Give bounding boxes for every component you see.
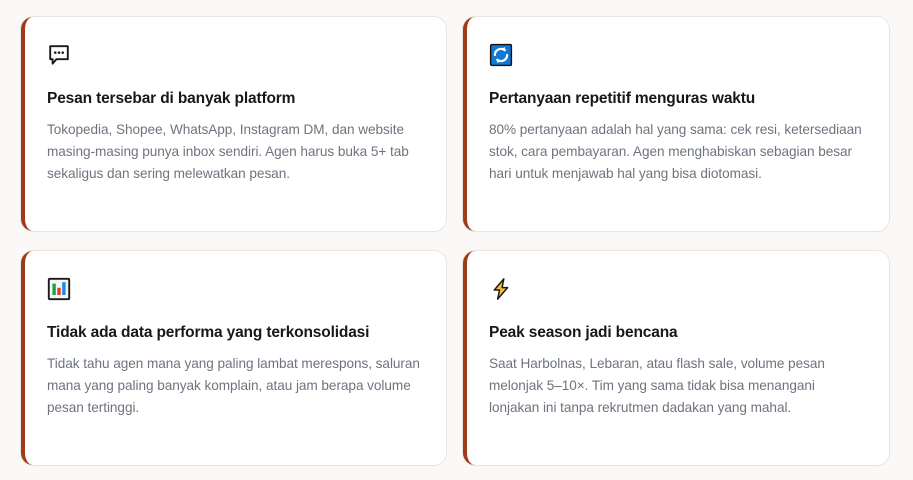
card-body: 80% pertanyaan adalah hal yang sama: cek… (489, 119, 863, 185)
problem-card: Peak season jadi bencana Saat Harbolnas,… (462, 250, 890, 466)
card-body: Saat Harbolnas, Lebaran, atau flash sale… (489, 353, 863, 419)
bar-chart-icon (47, 277, 420, 303)
problem-card: Tidak ada data performa yang terkonsolid… (20, 250, 447, 466)
card-body: Tidak tahu agen mana yang paling lambat … (47, 353, 420, 419)
problem-cards-grid: Pesan tersebar di banyak platform Tokope… (0, 0, 913, 480)
refresh-arrows-icon (489, 43, 863, 69)
card-body: Tokopedia, Shopee, WhatsApp, Instagram D… (47, 119, 420, 185)
card-title: Pesan tersebar di banyak platform (47, 89, 420, 108)
speech-balloon-icon (47, 43, 420, 69)
card-title: Peak season jadi bencana (489, 323, 863, 342)
lightning-bolt-icon (489, 277, 863, 303)
problem-card: Pesan tersebar di banyak platform Tokope… (20, 16, 447, 232)
card-title: Tidak ada data performa yang terkonsolid… (47, 323, 420, 342)
card-title: Pertanyaan repetitif menguras waktu (489, 89, 863, 108)
problem-card: Pertanyaan repetitif menguras waktu 80% … (462, 16, 890, 232)
